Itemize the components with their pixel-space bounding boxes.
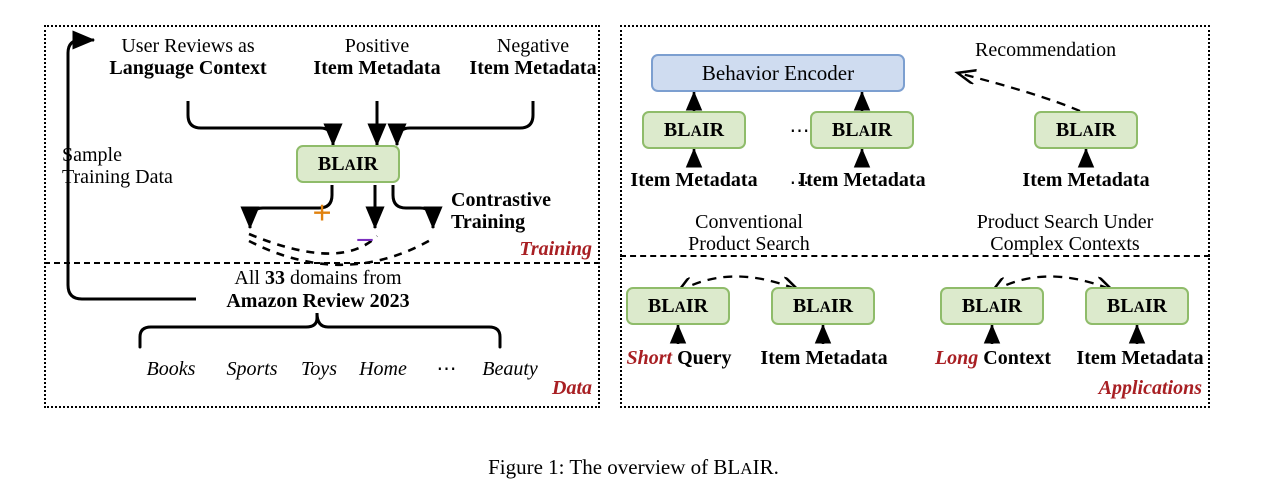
input-label-target-metadata: Item Metadata: [1022, 170, 1149, 192]
input-label-history-metadata-1: Item Metadata: [630, 170, 757, 192]
input-label-negative-metadata-line2: Item Metadata: [469, 58, 596, 80]
dataset-headline: All 33 domains from: [234, 268, 401, 290]
positive-pair-symbol: +: [312, 197, 331, 231]
input-label-short-query-rest: Query: [672, 347, 731, 369]
blair-model-query-conventional[interactable]: BLAIR: [626, 287, 730, 325]
behavior-encoder-box[interactable]: Behavior Encoder: [651, 54, 905, 92]
figure-caption-prefix: Figure 1: The overview of BL: [488, 455, 740, 479]
input-label-item-metadata-conventional: Item Metadata: [760, 348, 887, 370]
input-label-positive-metadata-line2: Item Metadata: [313, 58, 440, 80]
dataset-headline-prefix: All: [234, 267, 265, 289]
blair-model-history-2[interactable]: BLAIR: [810, 111, 914, 149]
input-label-negative-metadata: Negative Item Metadata: [469, 36, 596, 79]
blair-model-history-2-label: BLAIR: [832, 119, 892, 142]
dataset-headline-suffix: domains from: [285, 267, 402, 289]
blair-model-target-item-label: BLAIR: [1056, 119, 1116, 142]
dataset-domain-count: 33: [265, 267, 285, 289]
blair-model-training-label: BLAIR: [318, 153, 378, 176]
search-group-2-title: Product Search Under Complex Contexts: [977, 212, 1154, 255]
blair-model-context-complex-label: BLAIR: [962, 295, 1022, 318]
input-label-positive-metadata-line1: Positive: [313, 36, 440, 58]
divider-recommendation-search: [620, 255, 1210, 257]
input-label-long-context-rest: Context: [978, 347, 1051, 369]
behavior-encoder-label: Behavior Encoder: [702, 61, 854, 86]
domain-item-toys: Toys: [301, 358, 337, 381]
figure-container: User Reviews as Language Context Positiv…: [0, 0, 1267, 495]
input-label-short-query-emphasis: Short: [626, 347, 672, 369]
blair-model-history-1-label: BLAIR: [664, 119, 724, 142]
section-tag-data: Data: [552, 377, 592, 400]
input-label-item-metadata-complex: Item Metadata: [1076, 348, 1203, 370]
dataset-name: Amazon Review 2023: [226, 291, 409, 313]
blair-model-query-conventional-label: BLAIR: [648, 295, 708, 318]
divider-training-data: [44, 262, 600, 264]
input-label-history-metadata-2: Item Metadata: [798, 170, 925, 192]
contrastive-training-label: Contrastive Training: [451, 190, 551, 233]
domains-ellipsis: ⋯: [437, 356, 458, 381]
blair-model-training[interactable]: BLAIR: [296, 145, 400, 183]
input-label-positive-metadata: Positive Item Metadata: [313, 36, 440, 79]
search-group-2-title-line2: Complex Contexts: [977, 234, 1154, 256]
sample-training-data-line1: Sample: [62, 145, 173, 167]
blair-model-context-complex[interactable]: BLAIR: [940, 287, 1044, 325]
recommendation-edge-label: Recommendation: [975, 40, 1116, 62]
figure-caption: Figure 1: The overview of BLAIR.: [0, 455, 1267, 480]
domain-item-home: Home: [359, 358, 407, 381]
blair-model-item-complex-label: BLAIR: [1107, 295, 1167, 318]
section-tag-training: Training: [519, 238, 592, 261]
sample-training-data-label: Sample Training Data: [62, 145, 173, 188]
figure-caption-suffix: IR.: [753, 455, 779, 479]
blair-model-target-item[interactable]: BLAIR: [1034, 111, 1138, 149]
blair-model-item-conventional-label: BLAIR: [793, 295, 853, 318]
domain-item-sports: Sports: [226, 358, 277, 381]
input-label-long-context-emphasis: Long: [935, 347, 978, 369]
input-label-language-context: User Reviews as Language Context: [109, 36, 266, 79]
contrastive-training-line1: Contrastive: [451, 190, 551, 212]
recommendation-sequence-ellipsis-boxes: ⋯: [790, 118, 811, 143]
blair-model-history-1[interactable]: BLAIR: [642, 111, 746, 149]
search-group-1-title-line2: Product Search: [688, 234, 810, 256]
input-label-long-context: Long Context: [935, 348, 1051, 370]
domain-item-beauty: Beauty: [482, 358, 538, 381]
input-label-negative-metadata-line1: Negative: [469, 36, 596, 58]
contrastive-training-line2: Training: [451, 212, 551, 234]
section-tag-applications: Applications: [1099, 377, 1202, 400]
search-group-2-title-line1: Product Search Under: [977, 212, 1154, 234]
input-label-short-query: Short Query: [626, 348, 731, 370]
search-group-1-title: Conventional Product Search: [688, 212, 810, 255]
blair-model-item-complex[interactable]: BLAIR: [1085, 287, 1189, 325]
search-group-1-title-line1: Conventional: [688, 212, 810, 234]
blair-model-item-conventional[interactable]: BLAIR: [771, 287, 875, 325]
input-label-language-context-line1: User Reviews as: [109, 36, 266, 58]
sample-training-data-line2: Training Data: [62, 167, 173, 189]
negative-pair-symbol: –: [358, 223, 373, 253]
figure-caption-smallcap: A: [740, 459, 752, 478]
domain-item-books: Books: [147, 358, 196, 381]
input-label-language-context-line2: Language Context: [109, 58, 266, 80]
